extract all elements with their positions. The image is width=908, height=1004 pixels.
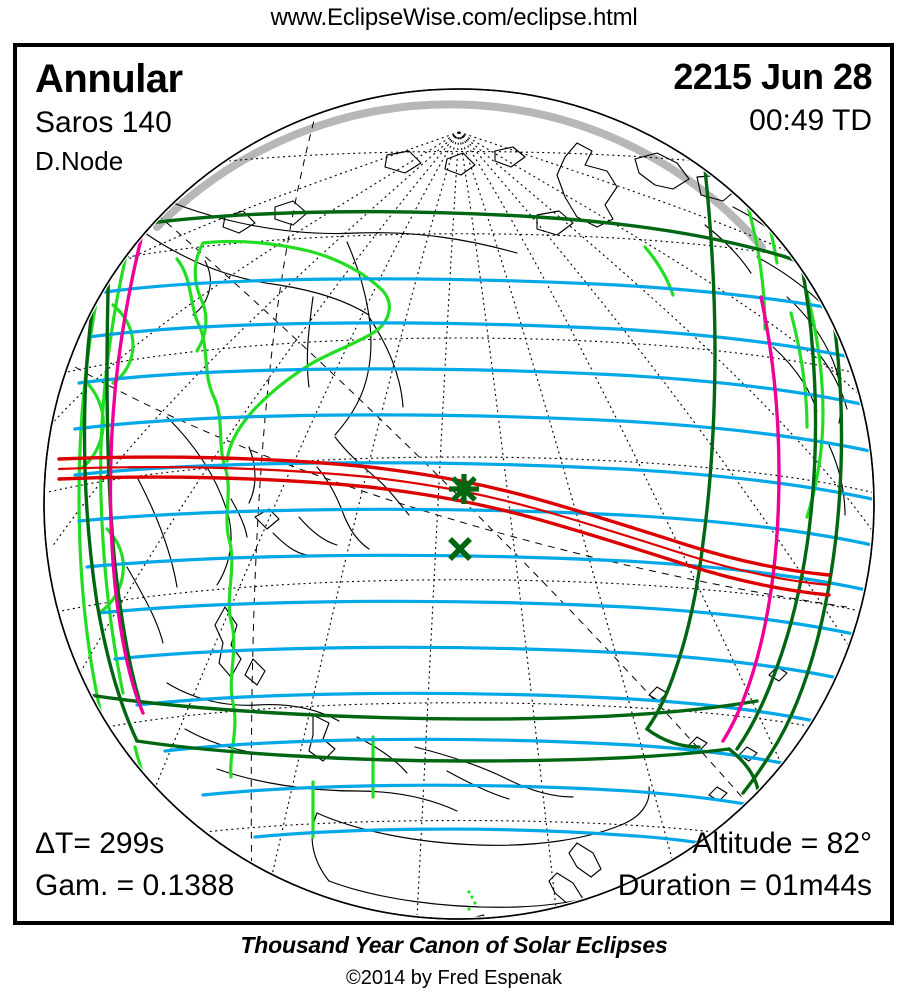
greatest-eclipse-marker: [449, 474, 479, 504]
globe-svg: [17, 47, 890, 921]
eclipse-date-label: 2215 Jun 28: [673, 59, 872, 95]
gamma-label: Gam. = 0.1388: [35, 871, 234, 901]
delta-t-label: ΔT= 299s: [35, 829, 164, 859]
eclipse-map-frame: Annular Saros 140 D.Node 2215 Jun 28 00:…: [13, 43, 894, 925]
altitude-label: Altitude = 82°: [692, 829, 872, 859]
globe-map: [17, 47, 890, 921]
node-label: D.Node: [35, 148, 123, 174]
copyright-author: ©2014 by Fred Espenak: [0, 967, 908, 990]
saros-label: Saros 140: [35, 108, 172, 138]
eclipse-time-label: 00:49 TD: [749, 106, 872, 136]
duration-label: Duration = 01m44s: [618, 871, 872, 901]
eclipse-type-label: Annular: [35, 59, 183, 99]
credit-block: Thousand Year Canon of Solar Eclipses ©2…: [0, 932, 908, 990]
eclipse-map-page: www.EclipseWise.com/eclipse.html: [0, 0, 908, 1004]
publication-title: Thousand Year Canon of Solar Eclipses: [0, 932, 908, 959]
source-url: www.EclipseWise.com/eclipse.html: [0, 0, 908, 36]
